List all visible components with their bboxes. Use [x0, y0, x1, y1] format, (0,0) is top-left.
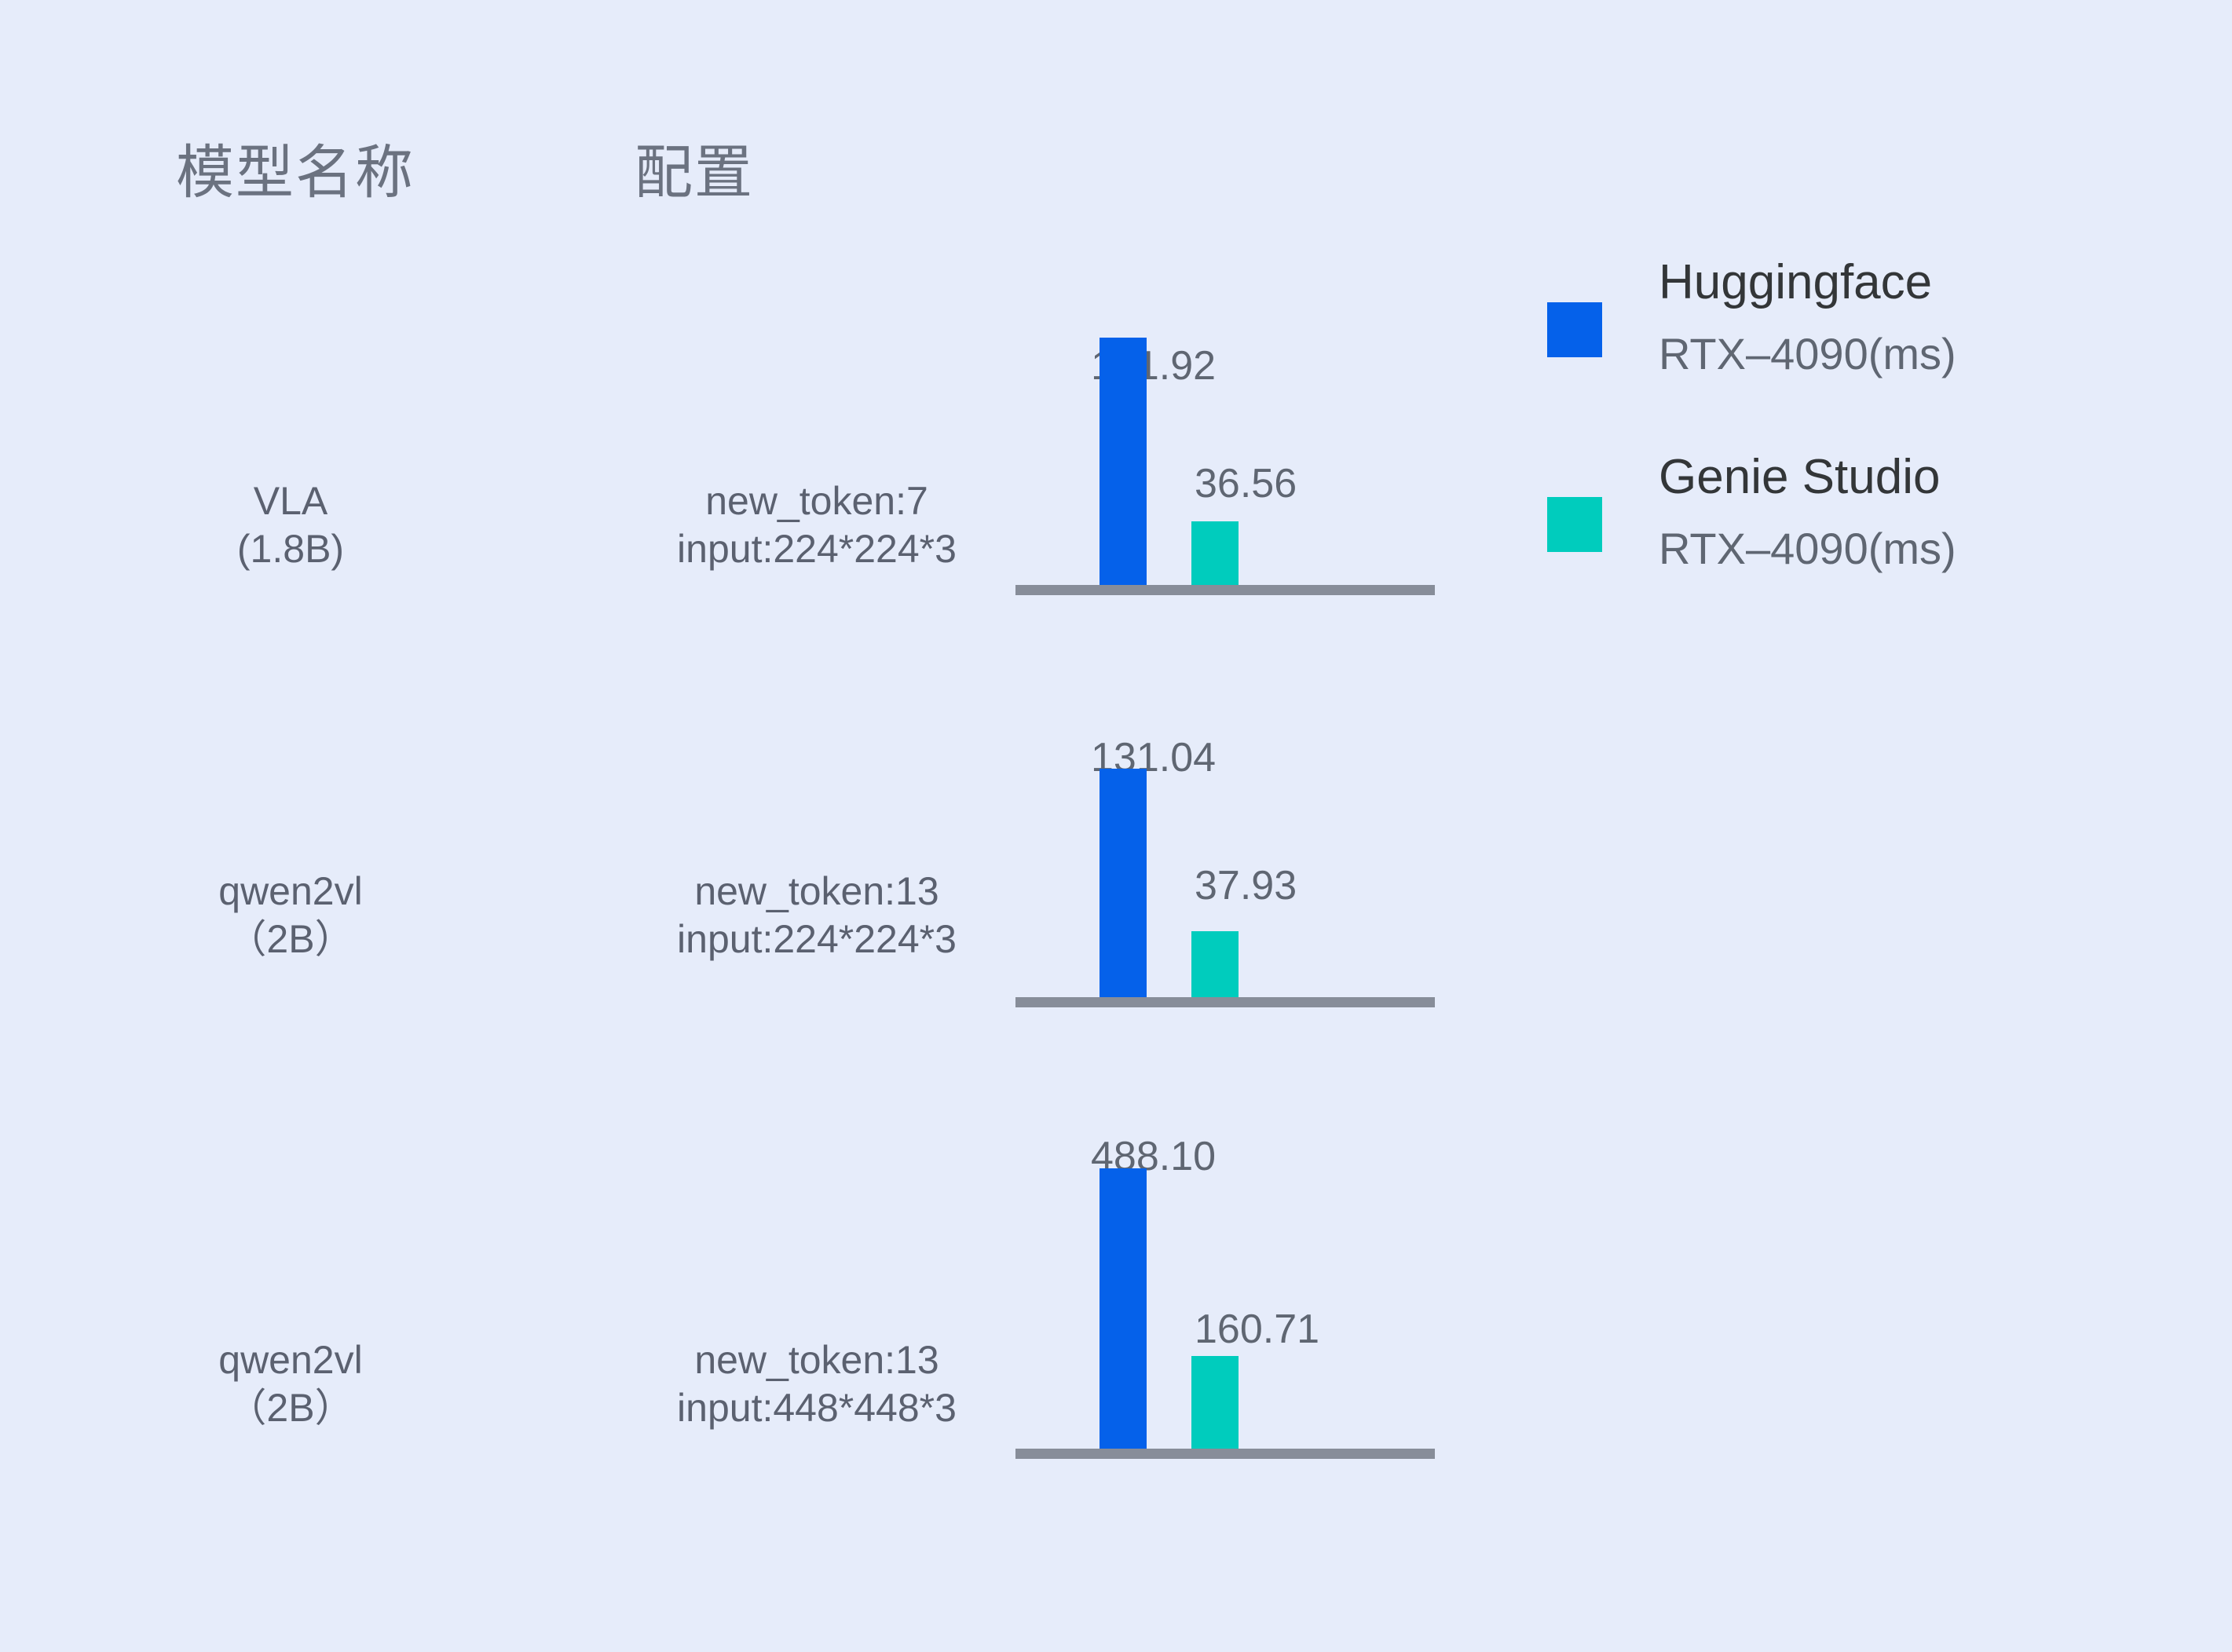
bar-primary	[1100, 338, 1147, 585]
legend-swatch-icon	[1547, 302, 1602, 357]
bar-secondary	[1191, 931, 1239, 997]
row-model-name-line-1: qwen2vl	[134, 868, 448, 916]
legend-item-title: Genie Studio	[1659, 449, 1940, 505]
row-model-name-line-2: (1.8B)	[134, 525, 448, 573]
bar-primary	[1100, 769, 1147, 997]
row-model-name-line-2: （2B）	[134, 916, 448, 963]
legend-item-subtitle: RTX–4090(ms)	[1659, 523, 1956, 574]
column-header-config: 配置	[635, 126, 754, 210]
row-bar-chart: 488.10 160.71	[1015, 1162, 1435, 1459]
row-model-name: VLA (1.8B)	[134, 477, 448, 573]
bar-value-secondary: 160.71	[1195, 1306, 1319, 1353]
row-bar-chart: 131.04 37.93	[1015, 711, 1435, 1007]
chart-canvas: 模型名称 配置 VLA (1.8B) new_token:7 input:224…	[0, 0, 2232, 1652]
table-row: qwen2vl （2B） new_token:13 input:224*224*…	[0, 711, 2232, 1040]
axis-baseline	[1015, 1449, 1435, 1459]
bar-value-secondary: 36.56	[1195, 460, 1297, 507]
legend-item-title: Huggingface	[1659, 254, 1932, 310]
bar-value-secondary: 37.93	[1195, 862, 1297, 909]
bar-secondary	[1191, 1356, 1239, 1449]
legend-swatch-icon	[1547, 497, 1602, 552]
axis-baseline	[1015, 585, 1435, 595]
row-bar-chart: 141.92 36.56	[1015, 298, 1435, 595]
table-row: qwen2vl （2B） new_token:13 input:448*448*…	[0, 1162, 2232, 1523]
axis-baseline	[1015, 997, 1435, 1007]
row-model-name-line-1: VLA	[134, 477, 448, 525]
column-header-model-name: 模型名称	[176, 126, 415, 210]
bar-primary	[1100, 1168, 1147, 1459]
row-model-name-line-1: qwen2vl	[134, 1336, 448, 1384]
row-model-name: qwen2vl （2B）	[134, 868, 448, 963]
row-model-name-line-2: （2B）	[134, 1384, 448, 1432]
legend-item-subtitle: RTX–4090(ms)	[1659, 328, 1956, 379]
bar-secondary	[1191, 521, 1239, 585]
row-model-name: qwen2vl （2B）	[134, 1336, 448, 1432]
